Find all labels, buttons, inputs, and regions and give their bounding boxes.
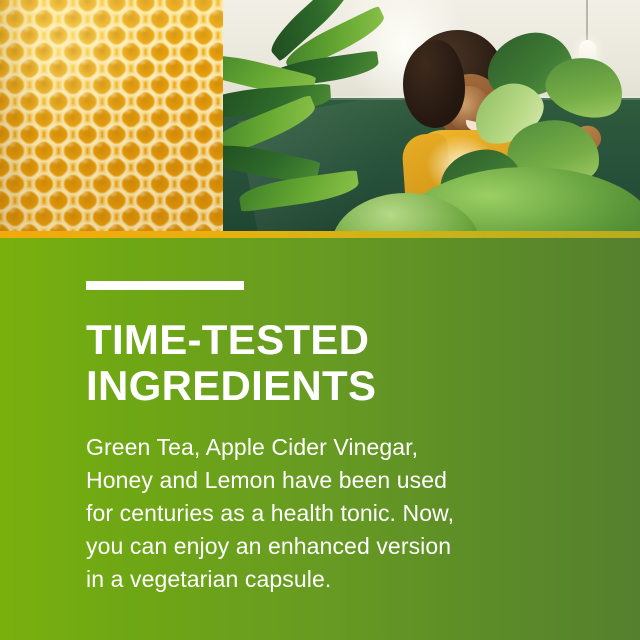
- content-panel: TIME-TESTED INGREDIENTS Green Tea, Apple…: [0, 238, 640, 640]
- content-panel-inner: TIME-TESTED INGREDIENTS Green Tea, Apple…: [0, 238, 640, 596]
- honeycomb-photo: [0, 0, 223, 237]
- accent-rule: [86, 281, 244, 290]
- promo-card: TIME-TESTED INGREDIENTS Green Tea, Apple…: [0, 0, 640, 640]
- hair-front: [403, 40, 465, 128]
- media-band: [0, 0, 640, 237]
- page-title: TIME-TESTED INGREDIENTS: [86, 317, 640, 409]
- body-paragraph: Green Tea, Apple Cider Vinegar, Honey an…: [86, 431, 538, 596]
- honeycomb-vignette: [0, 0, 223, 237]
- amber-divider-strip: [0, 231, 640, 238]
- woman-tending-plants-photo: [223, 0, 640, 237]
